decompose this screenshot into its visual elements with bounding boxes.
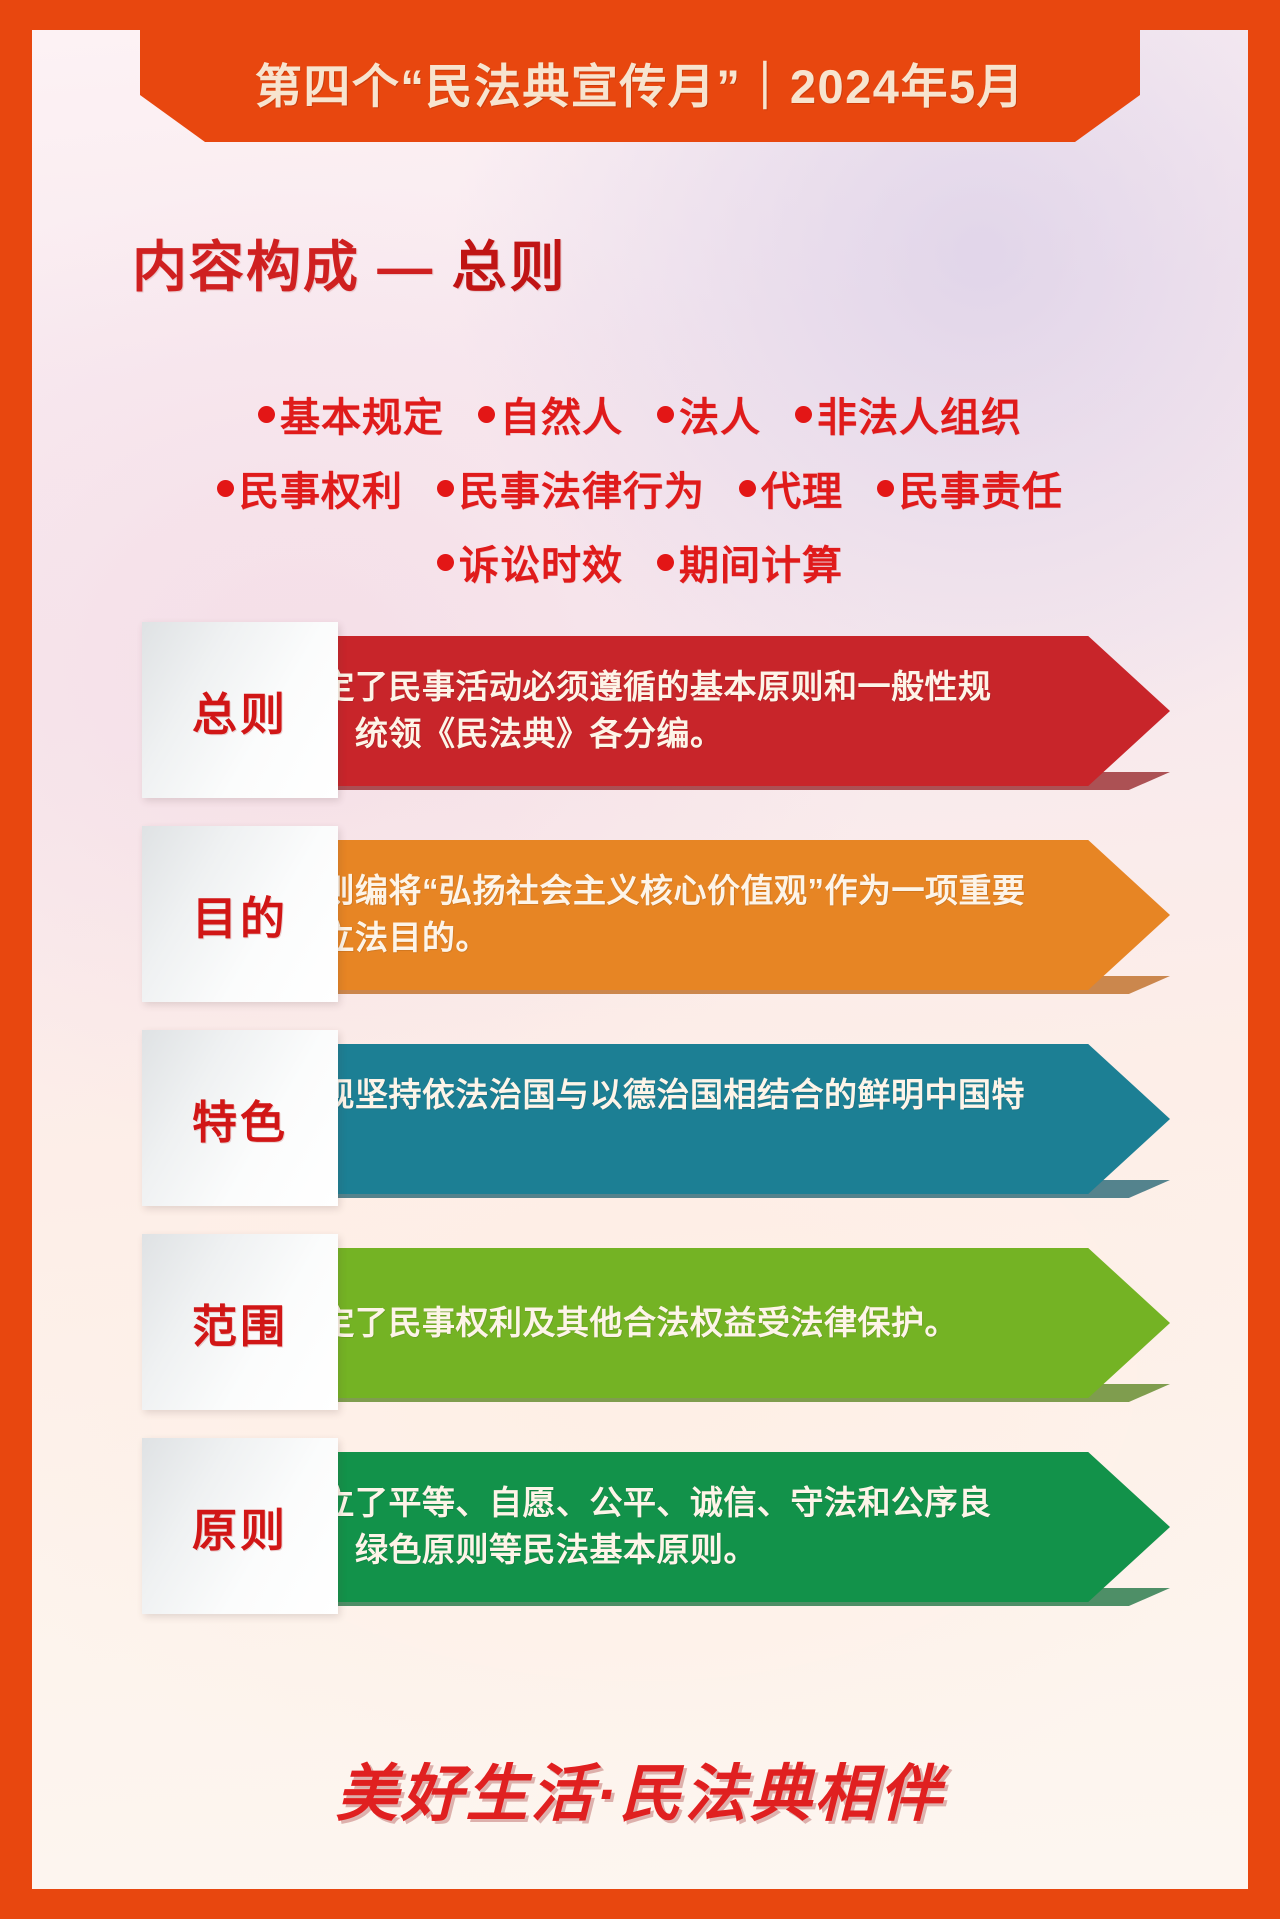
keyword-row: 诉讼时效 期间计算 (32, 533, 1248, 591)
keyword-item: 民事责任 (877, 459, 1063, 517)
band-label-text: 特色 (192, 1086, 288, 1151)
header-banner: 第四个“民法典宣传月”｜2024年5月 (140, 30, 1140, 142)
bullet-dot-icon (795, 406, 812, 423)
band-description: 体现坚持依法治国与以德治国相结合的鲜明中国特色。 (288, 1072, 1050, 1166)
keyword-item: 期间计算 (657, 533, 843, 591)
keyword-item: 民事法律行为 (437, 459, 705, 517)
keyword-row: 民事权利 民事法律行为 代理 民事责任 (32, 459, 1248, 517)
keyword-item: 法人 (657, 385, 761, 443)
band-row: 规定了民事权利及其他合法权益受法律保护。 范围 (32, 1234, 1248, 1410)
page-title-highlight: 总则 (452, 236, 568, 298)
poster-root: 第四个“民法典宣传月”｜2024年5月 内容构成 — 总则 基本规定 自然人 法… (0, 0, 1280, 1919)
band-row: 确立了平等、自愿、公平、诚信、守法和公序良俗、绿色原则等民法基本原则。 原则 (32, 1438, 1248, 1614)
bullet-dot-icon (657, 554, 674, 571)
footer-slogan-area: 美好生活·民法典相伴 (32, 1743, 1248, 1833)
band-arrow: 体现坚持依法治国与以德治国相结合的鲜明中国特色。 (208, 1044, 1170, 1194)
band-description: 规定了民事权利及其他合法权益受法律保护。 (288, 1300, 958, 1347)
keyword-label: 民事法律行为 (459, 459, 705, 517)
band-description: 确立了平等、自愿、公平、诚信、守法和公序良俗、绿色原则等民法基本原则。 (288, 1480, 1050, 1574)
band-description: 规定了民事活动必须遵循的基本原则和一般性规则，统领《民法典》各分编。 (288, 664, 1050, 758)
poster-page: 第四个“民法典宣传月”｜2024年5月 内容构成 — 总则 基本规定 自然人 法… (32, 30, 1248, 1889)
bullet-dot-icon (739, 480, 756, 497)
band-label-text: 总则 (192, 678, 288, 743)
band-label-text: 目的 (192, 882, 288, 947)
bullet-dot-icon (877, 480, 894, 497)
keyword-row: 基本规定 自然人 法人 非法人组织 (32, 385, 1248, 443)
footer-slogan: 美好生活·民法典相伴 (336, 1743, 945, 1833)
band-label-card: 范围 (142, 1234, 338, 1410)
keyword-item: 自然人 (478, 385, 623, 443)
band-row: 体现坚持依法治国与以德治国相结合的鲜明中国特色。 特色 (32, 1030, 1248, 1206)
header-banner-area: 第四个“民法典宣传月”｜2024年5月 (32, 30, 1248, 150)
band-label-text: 原则 (192, 1494, 288, 1559)
band-label-card: 原则 (142, 1438, 338, 1614)
keyword-item: 诉讼时效 (437, 533, 623, 591)
keyword-item: 基本规定 (258, 385, 444, 443)
band-row: 总则编将“弘扬社会主义核心价值观”作为一项重要的立法目的。 目的 (32, 826, 1248, 1002)
keyword-label: 民事责任 (899, 459, 1063, 517)
band-arrow: 规定了民事权利及其他合法权益受法律保护。 (208, 1248, 1170, 1398)
band-label-card: 总则 (142, 622, 338, 798)
band-description: 总则编将“弘扬社会主义核心价值观”作为一项重要的立法目的。 (288, 868, 1050, 962)
keyword-label: 诉讼时效 (459, 533, 623, 591)
keyword-label: 非法人组织 (817, 385, 1022, 443)
keyword-label: 代理 (761, 459, 843, 517)
page-title: 内容构成 — 总则 (132, 222, 568, 302)
band-row: 规定了民事活动必须遵循的基本原则和一般性规则，统领《民法典》各分编。 总则 (32, 622, 1248, 798)
keyword-list: 基本规定 自然人 法人 非法人组织 民事权利 民事法律行为 代理 民事责任 诉讼… (32, 385, 1248, 591)
keyword-item: 非法人组织 (795, 385, 1022, 443)
band-arrow: 规定了民事活动必须遵循的基本原则和一般性规则，统领《民法典》各分编。 (208, 636, 1170, 786)
bullet-dot-icon (437, 480, 454, 497)
band-arrow: 确立了平等、自愿、公平、诚信、守法和公序良俗、绿色原则等民法基本原则。 (208, 1452, 1170, 1602)
keyword-label: 民事权利 (239, 459, 403, 517)
band-label-card: 目的 (142, 826, 338, 1002)
bullet-dot-icon (657, 406, 674, 423)
bullet-dot-icon (258, 406, 275, 423)
bullet-dot-icon (437, 554, 454, 571)
bullet-dot-icon (217, 480, 234, 497)
bullet-dot-icon (478, 406, 495, 423)
keyword-item: 民事权利 (217, 459, 403, 517)
keyword-label: 期间计算 (679, 533, 843, 591)
band-arrow: 总则编将“弘扬社会主义核心价值观”作为一项重要的立法目的。 (208, 840, 1170, 990)
page-title-prefix: 内容构成 — (132, 236, 452, 298)
band-label-card: 特色 (142, 1030, 338, 1206)
band-label-text: 范围 (192, 1290, 288, 1355)
keyword-label: 法人 (679, 385, 761, 443)
band-list: 规定了民事活动必须遵循的基本原则和一般性规则，统领《民法典》各分编。 总则 总则… (32, 622, 1248, 1642)
keyword-label: 基本规定 (280, 385, 444, 443)
header-banner-title: 第四个“民法典宣传月”｜2024年5月 (255, 48, 1025, 117)
keyword-item: 代理 (739, 459, 843, 517)
keyword-label: 自然人 (500, 385, 623, 443)
